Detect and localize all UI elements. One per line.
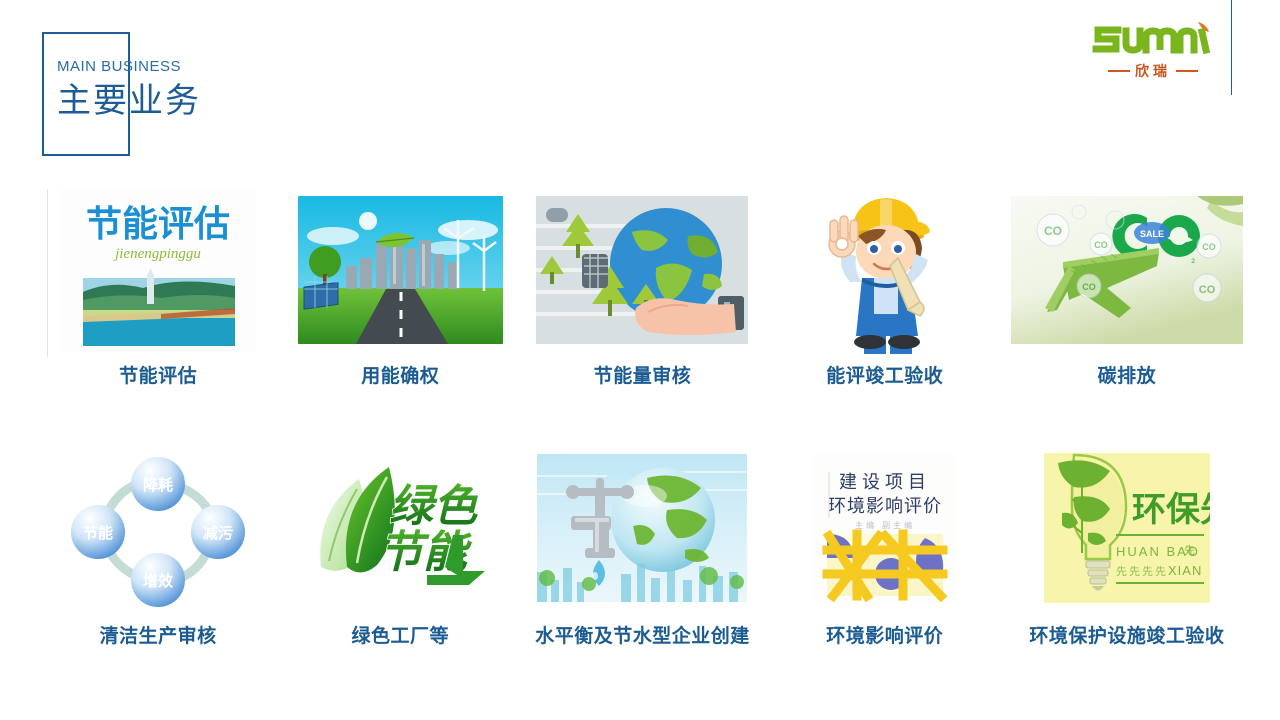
service-label: 水平衡及节水型企业创建 xyxy=(535,627,750,646)
svg-text:环保先: 环保先 xyxy=(1132,491,1210,529)
svg-text:增效: 增效 xyxy=(143,572,174,590)
book-cover-eia-icon: 建设项目 环境影响评价 主编 副主编 xyxy=(813,454,957,602)
brand-chinese-row: 欣瑞 xyxy=(1088,61,1218,81)
svg-text:jienengpinggu: jienengpinggu xyxy=(113,246,201,262)
svg-text:XIAN: XIAN xyxy=(1168,563,1202,578)
svg-text:节能: 节能 xyxy=(83,524,113,542)
thumbnail-wrap xyxy=(282,185,518,355)
green-leaf-logo-icon: 绿色 节能 xyxy=(303,449,498,607)
four-sphere-diagram-icon: 降耗 减污 增效 节能 xyxy=(66,448,251,608)
svg-text:CO: CO xyxy=(1199,284,1216,296)
service-label: 碳排放 xyxy=(1098,367,1157,386)
service-card-energy-assessment[interactable]: 节能评估 jienengpinggu xyxy=(40,185,276,433)
thumbnail-wrap: 降耗 减污 增效 节能 xyxy=(40,443,276,613)
svg-text:减污: 减污 xyxy=(203,524,233,542)
page-title-cn: 主要业务 xyxy=(57,80,201,123)
service-label: 节能量审核 xyxy=(594,367,692,386)
thumbnail-wrap xyxy=(524,185,760,355)
svg-text:CO: CO xyxy=(1044,224,1062,238)
svg-text:₂: ₂ xyxy=(1191,253,1195,265)
green-city-illustration-icon xyxy=(298,196,503,344)
service-label: 环境影响评价 xyxy=(826,627,943,646)
thumbnail-wrap: 环保先 HUAN BAO 先 先先先先 XIAN xyxy=(1009,443,1245,613)
worker-mascot-icon xyxy=(802,186,967,354)
page-title: MAIN BUSINESS 主要业务 xyxy=(57,58,201,123)
svg-text:CO: CO xyxy=(1094,240,1108,250)
thumbnail-wrap: 建设项目 环境影响评价 主编 副主编 xyxy=(767,443,1003,613)
hand-holding-earth-icon xyxy=(536,196,748,344)
svg-text:SALE: SALE xyxy=(1140,229,1164,239)
svg-text:先先先先: 先先先先 xyxy=(1116,565,1168,578)
co2-arrow-icon: ₂ SALE CO xyxy=(1011,196,1243,344)
service-label: 环境保护设施竣工验收 xyxy=(1029,627,1224,646)
brand-rule-right xyxy=(1176,70,1198,72)
service-card-energy-rights[interactable]: 用能确权 xyxy=(282,185,518,433)
svg-text:建设项目: 建设项目 xyxy=(839,472,931,492)
svg-text:节能评估: 节能评估 xyxy=(86,204,230,244)
service-card-water-balance[interactable]: 水平衡及节水型企业创建 xyxy=(524,443,760,691)
service-card-acceptance-inspection[interactable]: 能评竣工验收 xyxy=(767,185,1003,433)
services-grid: 节能评估 jienengpinggu xyxy=(40,185,1245,690)
tap-globe-water-icon xyxy=(537,454,747,602)
service-label: 能评竣工验收 xyxy=(826,367,943,386)
svg-text:降耗: 降耗 xyxy=(143,476,173,494)
thumbnail-wrap: 绿色 节能 xyxy=(282,443,518,613)
page-title-en: MAIN BUSINESS xyxy=(57,58,201,76)
slide-root: MAIN BUSINESS 主要业务 欣瑞 xyxy=(0,0,1280,720)
svg-text:先: 先 xyxy=(1184,544,1195,557)
svg-text:环境影响评价: 环境影响评价 xyxy=(828,496,942,516)
thumbnail-wrap: ₂ SALE CO xyxy=(1009,185,1245,355)
poster-energy-assessment-icon: 节能评估 jienengpinggu xyxy=(61,188,256,353)
service-label: 用能确权 xyxy=(361,367,439,386)
service-card-cleaner-production-audit[interactable]: 降耗 减污 增效 节能 清洁生产审核 xyxy=(40,443,276,691)
svg-text:CO: CO xyxy=(1082,282,1096,292)
svg-text:主编 副主编: 主编 副主编 xyxy=(855,520,915,530)
service-label: 绿色工厂等 xyxy=(352,627,450,646)
thumbnail-wrap xyxy=(767,185,1003,355)
service-card-env-facility-acceptance[interactable]: 环保先 HUAN BAO 先 先先先先 XIAN 环境保护设施竣工验收 xyxy=(1009,443,1245,691)
service-card-carbon-emission[interactable]: ₂ SALE CO xyxy=(1009,185,1245,433)
service-card-green-factory[interactable]: 绿色 节能 绿色工厂等 xyxy=(282,443,518,691)
service-card-energy-saving-audit[interactable]: 节能量审核 xyxy=(524,185,760,433)
brand-rule-left xyxy=(1108,70,1130,72)
thumbnail-wrap xyxy=(524,443,760,613)
brand-name-cn: 欣瑞 xyxy=(1135,61,1171,81)
card-accent-rule xyxy=(47,189,48,357)
thumbnail-wrap: 节能评估 jienengpinggu xyxy=(40,185,276,355)
service-card-eia[interactable]: 建设项目 环境影响评价 主编 副主编 xyxy=(767,443,1003,691)
brand-logo[interactable]: 欣瑞 xyxy=(1088,20,1218,82)
svg-text:CO: CO xyxy=(1202,242,1216,252)
svg-text:绿色: 绿色 xyxy=(389,482,478,531)
brand-wordmark-icon xyxy=(1088,20,1218,60)
header-divider xyxy=(1231,0,1232,95)
service-label: 清洁生产审核 xyxy=(100,627,217,646)
service-label: 节能评估 xyxy=(119,367,197,386)
bulb-eco-poster-icon: 环保先 HUAN BAO 先 先先先先 XIAN xyxy=(1044,453,1210,603)
